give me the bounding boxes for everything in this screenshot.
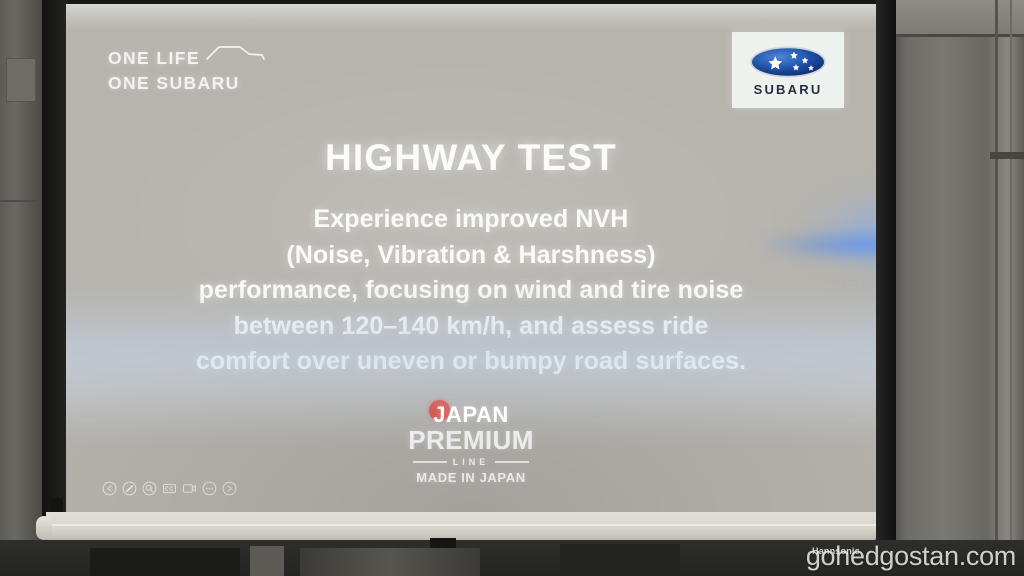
tagline-line-1: ONE LIFE: [108, 46, 200, 71]
left-wall-panel: [6, 58, 36, 102]
previous-slide-icon[interactable]: [102, 481, 117, 496]
subaru-tagline: ONE LIFE ONE SUBARU: [108, 46, 268, 96]
equipment-block-b: [250, 546, 284, 576]
presentation-controls[interactable]: [102, 481, 237, 496]
projection-surface: ONE LIFE ONE SUBARU: [66, 4, 876, 512]
right-pillar-edge: [995, 0, 998, 576]
body-line-2: (Noise, Vibration & Harshness): [66, 238, 876, 274]
tagline-line-2: ONE SUBARU: [108, 71, 268, 96]
japan-rest: APAN: [446, 402, 509, 427]
slide-body-text: Experience improved NVH (Noise, Vibratio…: [66, 202, 876, 380]
japan-initial: J: [433, 402, 446, 427]
site-watermark: gohedgostan.com: [806, 541, 1016, 572]
screen-bar-left-cap: [36, 516, 52, 540]
body-line-5: comfort over uneven or bumpy road surfac…: [66, 344, 876, 380]
body-line-3: performance, focusing on wind and tire n…: [66, 273, 876, 309]
left-wall-seam: [0, 200, 44, 202]
more-options-icon[interactable]: [202, 481, 217, 496]
right-wall-seam: [890, 34, 1024, 37]
body-line-1: Experience improved NVH: [66, 202, 876, 238]
japan-wordmark: JAPAN: [433, 402, 508, 428]
pen-icon[interactable]: [122, 481, 137, 496]
right-wall-upper-band: [890, 0, 1024, 34]
tagline-row-one: ONE LIFE: [108, 46, 268, 71]
projector-screen-frame: ONE LIFE ONE SUBARU: [42, 0, 896, 546]
japan-premium-line-logo: JAPAN PREMIUM LINE MADE IN JAPAN: [66, 402, 876, 485]
car-silhouette-icon: [206, 42, 268, 69]
subaru-logo-badge: SUBARU: [732, 32, 844, 108]
body-line-4: between 120–140 km/h, and assess ride: [66, 309, 876, 345]
line-rule-right: [495, 461, 529, 463]
left-wall: [0, 0, 44, 576]
japan-premium-top-row: JAPAN: [433, 402, 508, 428]
line-wordmark-row: LINE: [413, 457, 530, 467]
line-rule-left: [413, 461, 447, 463]
equipment-block-c: [300, 548, 480, 576]
next-slide-icon[interactable]: [222, 481, 237, 496]
subaru-wordmark: SUBARU: [754, 82, 823, 97]
slide-title: HIGHWAY TEST: [66, 137, 876, 179]
captions-icon[interactable]: [162, 481, 177, 496]
line-wordmark: LINE: [453, 457, 490, 467]
zoom-icon[interactable]: [142, 481, 157, 496]
screen-frame-right-edge: [876, 0, 896, 546]
premium-wordmark: PREMIUM: [408, 425, 534, 456]
screen-bar-highlight: [46, 524, 876, 526]
presentation-slide: ONE LIFE ONE SUBARU: [66, 4, 876, 512]
right-pillar-bracket: [990, 152, 1024, 159]
subaru-pleiades-icon: [748, 44, 828, 80]
right-wall: [890, 0, 1024, 576]
right-pillar-edge-secondary: [1010, 0, 1012, 576]
made-in-japan-label: MADE IN JAPAN: [416, 470, 525, 485]
screen-frame-left-edge: [42, 0, 68, 546]
screen-weighted-bar: [46, 512, 876, 542]
equipment-block-a: [90, 548, 240, 576]
equipment-block-d: [560, 544, 680, 576]
presenter-view-icon[interactable]: [182, 481, 197, 496]
